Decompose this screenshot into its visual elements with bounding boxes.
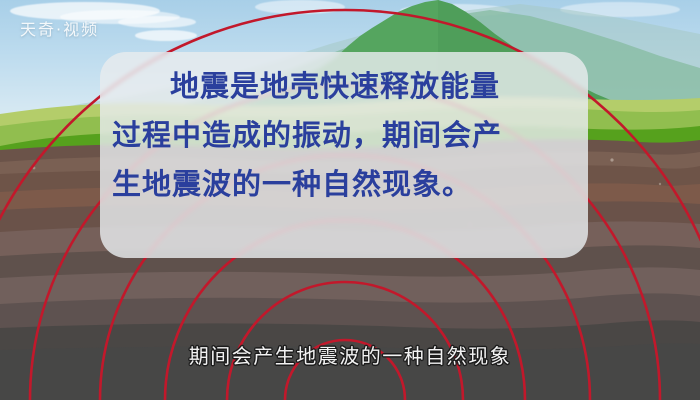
caption-line-3: 生地震波的一种自然现象。 (112, 160, 578, 209)
subtitle-text: 期间会产生地震波的一种自然现象 (0, 340, 700, 369)
caption-line-2: 过程中造成的振动，期间会产 (112, 111, 578, 160)
video-frame: 地震是地壳快速释放能量 过程中造成的振动，期间会产 生地震波的一种自然现象。 天… (0, 0, 700, 400)
caption-line-1: 地震是地壳快速释放能量 (112, 62, 578, 111)
caption-text: 地震是地壳快速释放能量 过程中造成的振动，期间会产 生地震波的一种自然现象。 (112, 62, 578, 209)
watermark-logo: 天奇·视频 (20, 16, 99, 40)
